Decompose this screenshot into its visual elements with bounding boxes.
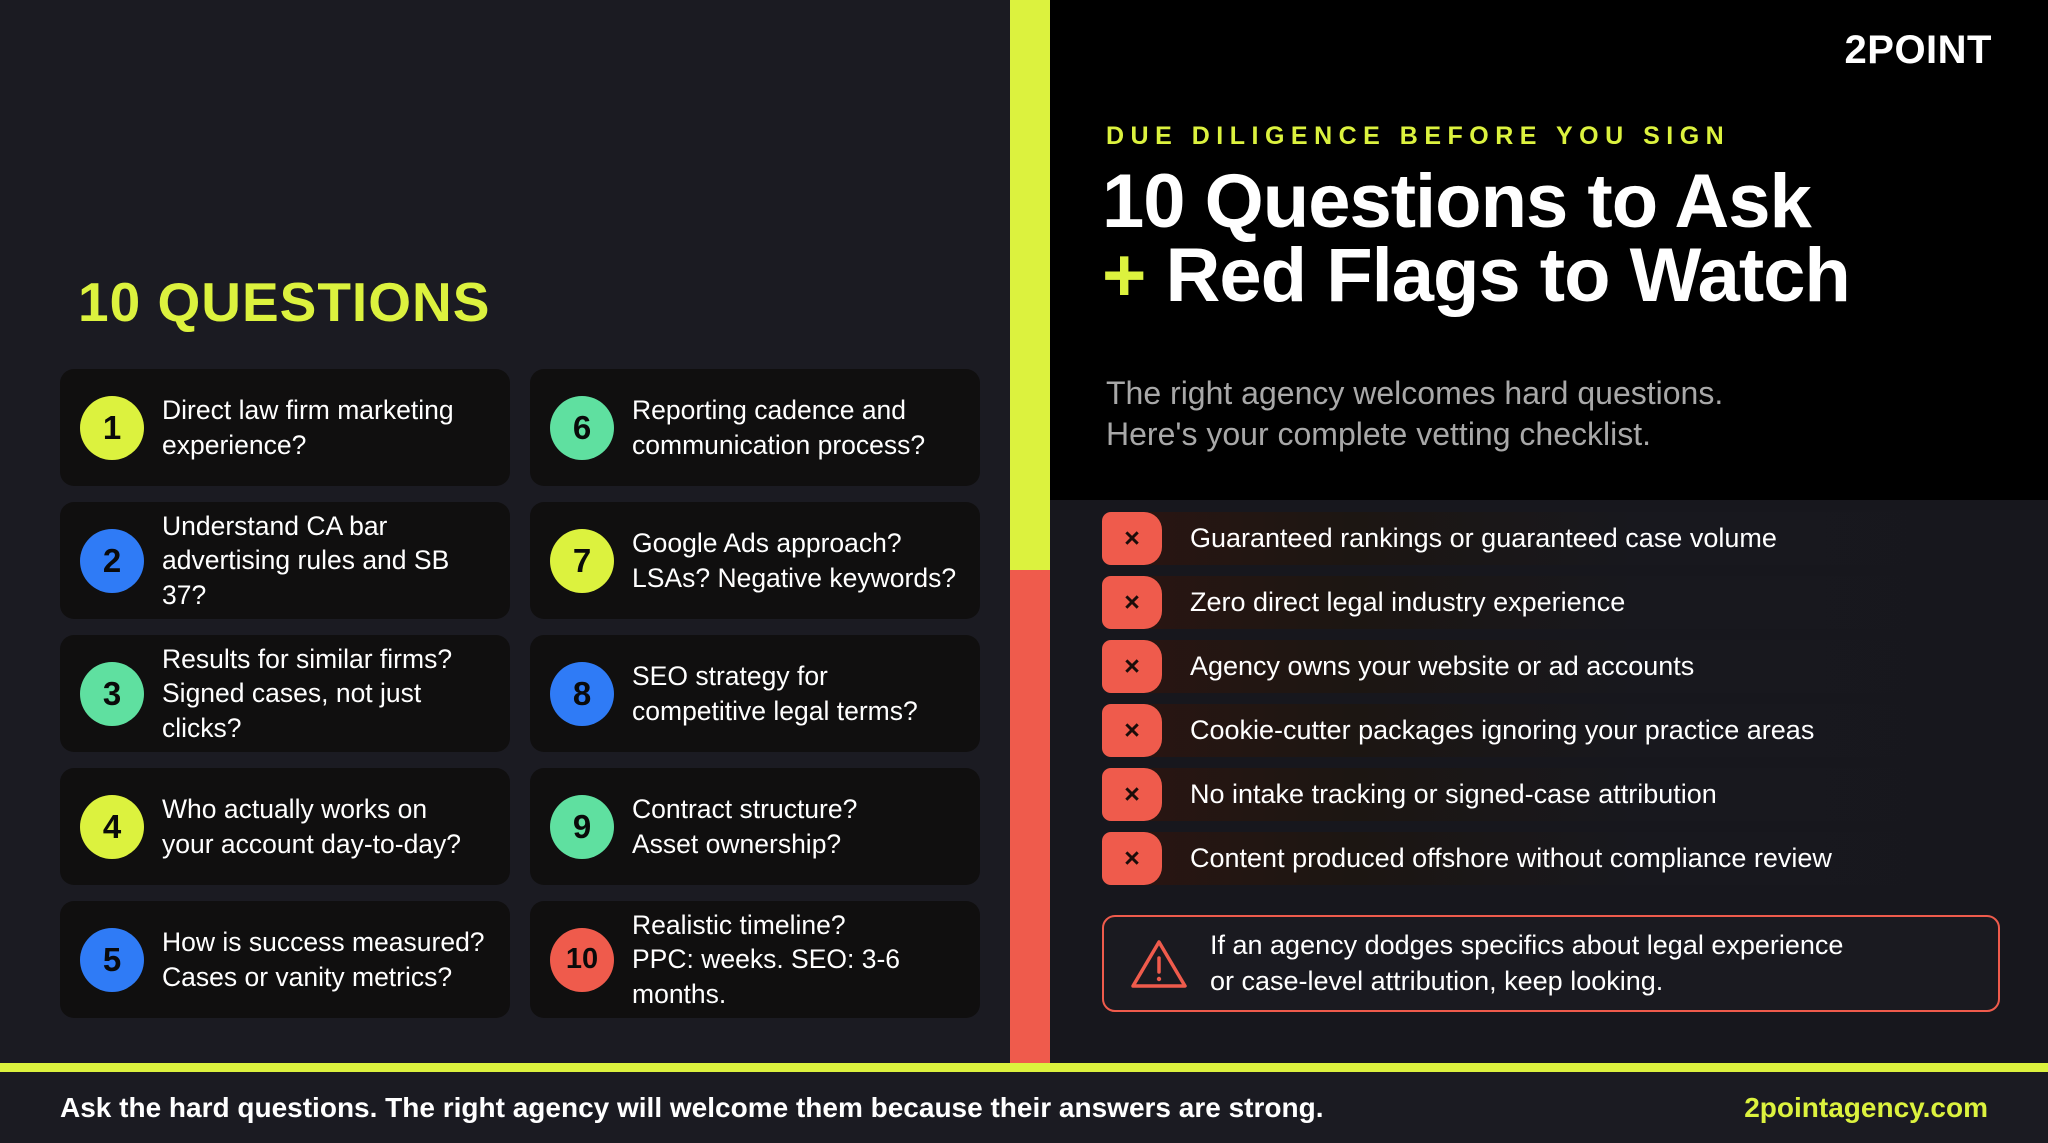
subheadline-line-2: Here's your complete vetting checklist. [1106, 416, 1651, 452]
infographic-poster: 10 QUESTIONS 1Direct law firm marketinge… [0, 0, 2048, 1143]
warning-text: If an agency dodges specifics about lega… [1210, 928, 1843, 999]
warning-line-2: or case-level attribution, keep looking. [1210, 966, 1663, 996]
question-line-2: Cases or vanity metrics? [162, 962, 452, 992]
question-card[interactable]: 4Who actually works onyour account day-t… [60, 768, 510, 885]
question-text: Results for similar firms?Signed cases, … [162, 642, 492, 745]
red-flag-text: Zero direct legal industry experience [1190, 587, 1625, 618]
question-line-1: Google Ads approach? [632, 528, 902, 558]
red-flag-text: No intake tracking or signed-case attrib… [1190, 779, 1717, 810]
question-number-badge: 10 [550, 928, 614, 992]
red-flag-text: Guaranteed rankings or guaranteed case v… [1190, 523, 1777, 554]
question-card[interactable]: 9Contract structure?Asset ownership? [530, 768, 980, 885]
question-number-badge: 3 [80, 662, 144, 726]
footer-website-url[interactable]: 2pointagency.com [1744, 1092, 1988, 1124]
question-card[interactable]: 8SEO strategy forcompetitive legal terms… [530, 635, 980, 752]
question-text: How is success measured?Cases or vanity … [162, 925, 485, 994]
red-flag-row[interactable]: ×No intake tracking or signed-case attri… [1102, 768, 2000, 821]
question-line-1: How is success measured? [162, 927, 485, 957]
red-flag-row[interactable]: ×Content produced offshore without compl… [1102, 832, 2000, 885]
red-flag-text: Agency owns your website or ad accounts [1190, 651, 1694, 682]
question-line-1: Contract structure? [632, 794, 857, 824]
brand-logo: 2POINT [1845, 28, 1992, 73]
question-number-badge: 9 [550, 795, 614, 859]
x-mark-icon: × [1102, 832, 1162, 885]
headline-plus-mark: + [1102, 233, 1145, 318]
question-text: Who actually works onyour account day-to… [162, 792, 461, 861]
hero-block: 2POINT DUE DILIGENCE BEFORE YOU SIGN 10 … [1050, 0, 2048, 500]
red-flag-text: Content produced offshore without compli… [1190, 843, 1832, 874]
questions-panel: 10 QUESTIONS 1Direct law firm marketinge… [0, 0, 1010, 1063]
red-flags-list: ×Guaranteed rankings or guaranteed case … [1102, 512, 2000, 896]
question-line-2: advertising rules and SB 37? [162, 545, 449, 609]
question-line-1: Who actually works on [162, 794, 427, 824]
subheadline-line-1: The right agency welcomes hard questions… [1106, 375, 1723, 411]
question-text: Understand CA baradvertising rules and S… [162, 509, 492, 612]
question-number-badge: 5 [80, 928, 144, 992]
page-title: 10 Questions to Ask + Red Flags to Watch [1102, 165, 2032, 312]
eyebrow-label: DUE DILIGENCE BEFORE YOU SIGN [1106, 122, 1730, 151]
question-line-1: Direct law firm marketing [162, 395, 454, 425]
question-number-badge: 4 [80, 795, 144, 859]
headline-line-1: 10 Questions to Ask [1102, 159, 1811, 244]
x-mark-icon: × [1102, 640, 1162, 693]
question-number-badge: 1 [80, 396, 144, 460]
subheadline: The right agency welcomes hard questions… [1106, 373, 2006, 455]
question-line-2: experience? [162, 430, 306, 460]
red-flag-row[interactable]: ×Guaranteed rankings or guaranteed case … [1102, 512, 2000, 565]
x-mark-icon: × [1102, 512, 1162, 565]
x-mark-icon: × [1102, 768, 1162, 821]
x-mark-icon: × [1102, 704, 1162, 757]
warning-triangle-icon [1130, 938, 1188, 990]
question-line-1: Realistic timeline? [632, 910, 846, 940]
question-line-1: Results for similar firms? [162, 644, 452, 674]
question-card[interactable]: 3Results for similar firms?Signed cases,… [60, 635, 510, 752]
warning-callout: If an agency dodges specifics about lega… [1102, 915, 2000, 1012]
footer-bar: Ask the hard questions. The right agency… [0, 1072, 2048, 1143]
question-text: Reporting cadence andcommunication proce… [632, 393, 925, 462]
question-line-2: communication process? [632, 430, 925, 460]
headline-line-2: Red Flags to Watch [1145, 233, 1849, 318]
divider-segment-red [1010, 570, 1050, 1063]
question-card[interactable]: 1Direct law firm marketingexperience? [60, 369, 510, 486]
question-line-2: LSAs? Negative keywords? [632, 563, 956, 593]
red-flag-row[interactable]: ×Cookie-cutter packages ignoring your pr… [1102, 704, 2000, 757]
red-flag-row[interactable]: ×Zero direct legal industry experience [1102, 576, 2000, 629]
question-card[interactable]: 2Understand CA baradvertising rules and … [60, 502, 510, 619]
question-text: Contract structure?Asset ownership? [632, 792, 857, 861]
question-number-badge: 8 [550, 662, 614, 726]
question-card[interactable]: 5How is success measured?Cases or vanity… [60, 901, 510, 1018]
question-text: Realistic timeline?PPC: weeks. SEO: 3-6 … [632, 908, 962, 1011]
question-card[interactable]: 10Realistic timeline?PPC: weeks. SEO: 3-… [530, 901, 980, 1018]
question-line-2: PPC: weeks. SEO: 3-6 months. [632, 944, 900, 1008]
footer-tagline: Ask the hard questions. The right agency… [60, 1092, 1323, 1124]
question-line-2: Asset ownership? [632, 829, 841, 859]
question-line-2: your account day-to-day? [162, 829, 461, 859]
question-text: Direct law firm marketingexperience? [162, 393, 454, 462]
question-card[interactable]: 7Google Ads approach?LSAs? Negative keyw… [530, 502, 980, 619]
question-line-2: Signed cases, not just clicks? [162, 678, 421, 742]
question-line-1: Reporting cadence and [632, 395, 906, 425]
red-flags-panel: 2POINT DUE DILIGENCE BEFORE YOU SIGN 10 … [1050, 0, 2048, 1063]
question-number-badge: 2 [80, 529, 144, 593]
question-card[interactable]: 6Reporting cadence andcommunication proc… [530, 369, 980, 486]
question-number-badge: 7 [550, 529, 614, 593]
x-mark-icon: × [1102, 576, 1162, 629]
red-flag-row[interactable]: ×Agency owns your website or ad accounts [1102, 640, 2000, 693]
question-line-1: Understand CA bar [162, 511, 387, 541]
question-text: SEO strategy forcompetitive legal terms? [632, 659, 918, 728]
footer-divider-rule [0, 1063, 2048, 1072]
question-line-1: SEO strategy for [632, 661, 828, 691]
divider-segment-yellow [1010, 0, 1050, 570]
question-number-badge: 6 [550, 396, 614, 460]
question-line-2: competitive legal terms? [632, 696, 918, 726]
questions-panel-title: 10 QUESTIONS [78, 270, 490, 334]
red-flag-text: Cookie-cutter packages ignoring your pra… [1190, 715, 1814, 746]
question-text: Google Ads approach?LSAs? Negative keywo… [632, 526, 956, 595]
warning-line-1: If an agency dodges specifics about lega… [1210, 930, 1843, 960]
questions-grid: 1Direct law firm marketingexperience?6Re… [60, 369, 980, 1018]
vertical-divider [1010, 0, 1050, 1063]
